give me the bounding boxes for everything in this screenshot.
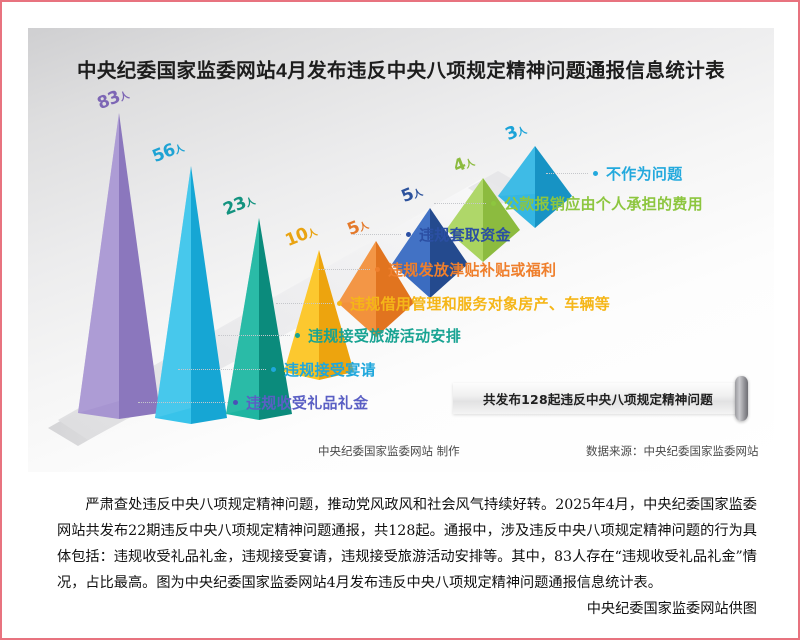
credit-source: 数据来源：中央纪委国家监委网站: [586, 443, 759, 459]
total-banner: 共发布128起违反中央八项规定精神问题: [453, 383, 743, 414]
chart-panel: 中央纪委国家监委网站4月发布违反中央八项规定精神问题通报信息统计表: [28, 28, 774, 472]
leader-line: [546, 173, 588, 174]
leader-dot: [271, 367, 276, 372]
leader-line: [178, 369, 266, 370]
leader-dot: [406, 232, 411, 237]
leader-dot: [593, 171, 598, 176]
leader-line: [276, 303, 332, 304]
legend-row-4[interactable]: 违规借用管理和服务对象房产、车辆等: [276, 293, 610, 313]
legend-label-7: 公款报销应由个人承担的费用: [504, 193, 703, 214]
legend-label-6: 违规套取资金: [419, 224, 511, 245]
leader-line: [138, 402, 228, 403]
article-paragraph: 严肃查处违反中央八项规定精神问题，推动党风政风和社会风气持续好转。2025年4月…: [57, 492, 757, 596]
leader-line: [353, 234, 401, 235]
pyramid-bar-8: [494, 146, 576, 228]
credit-producer: 中央纪委国家监委网站 制作: [318, 443, 460, 459]
infographic-page: 中央纪委国家监委网站4月发布违反中央八项规定精神问题通报信息统计表: [0, 0, 800, 640]
legend-row-5[interactable]: 违规发放津贴补贴或福利: [318, 259, 556, 279]
legend-label-5: 违规发放津贴补贴或福利: [388, 259, 556, 280]
legend-row-2[interactable]: 违规接受宴请: [178, 359, 376, 379]
legend-label-1: 违规收受礼品礼金: [246, 392, 368, 413]
article-signoff: 中央纪委国家监委网站供图: [57, 598, 757, 618]
leader-dot: [295, 333, 300, 338]
article-body: 严肃查处违反中央八项规定精神问题，推动党风政风和社会风气持续好转。2025年4月…: [57, 492, 757, 596]
legend-label-3: 违规接受旅游活动安排: [308, 325, 461, 346]
leader-line: [434, 203, 486, 204]
leader-dot: [337, 301, 342, 306]
legend-row-8[interactable]: 不作为问题: [546, 163, 683, 183]
leader-dot: [233, 400, 238, 405]
leader-line: [318, 269, 370, 270]
legend-row-7[interactable]: 公款报销应由个人承担的费用: [434, 193, 703, 213]
leader-dot: [375, 267, 380, 272]
legend-row-3[interactable]: 违规接受旅游活动安排: [218, 325, 461, 345]
legend-label-2: 违规接受宴请: [284, 359, 376, 380]
leader-line: [218, 335, 290, 336]
total-banner-text: 共发布128起违反中央八项规定精神问题: [483, 389, 713, 408]
banner-roll-icon: [735, 376, 748, 421]
legend-label-4: 违规借用管理和服务对象房产、车辆等: [350, 293, 610, 314]
legend-label-8: 不作为问题: [606, 163, 683, 184]
leader-dot: [491, 201, 496, 206]
legend-row-6[interactable]: 违规套取资金: [353, 224, 511, 244]
legend-row-1[interactable]: 违规收受礼品礼金: [138, 392, 368, 412]
